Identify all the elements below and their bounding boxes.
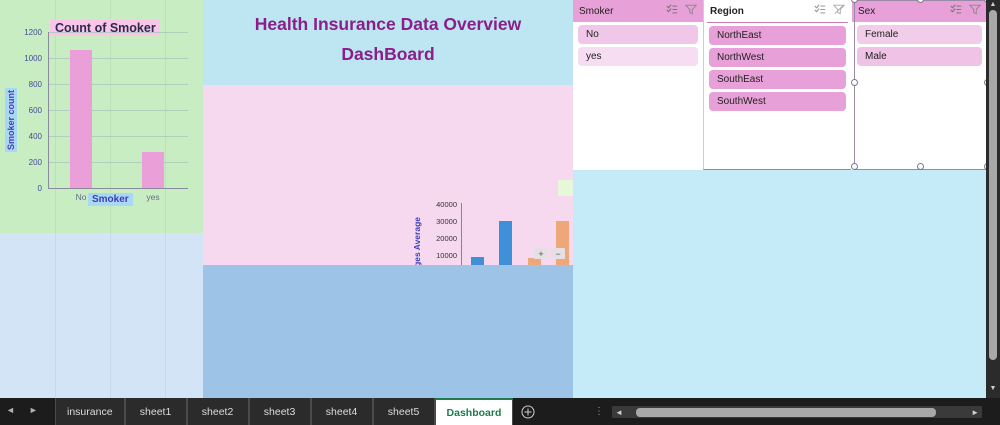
dashboard-title-panel: Health Insurance Data Overview DashBoard [203,0,573,85]
plus-circle-icon[interactable] [521,405,535,419]
multi-select-icon[interactable] [666,4,678,15]
sheet-tabs: insurance sheet1 sheet2 sheet3 sheet4 sh… [55,398,543,425]
ytick: 800 [18,80,42,89]
ytick: 1000 [18,54,42,63]
splitter-grip[interactable]: ⋮ [594,406,604,417]
horizontal-scroll-thumb[interactable] [636,408,936,417]
sheet-tab-dashboard[interactable]: Dashboard [435,398,514,425]
ytick: 20000 [419,234,457,243]
slicer-item-label: yes [586,51,602,62]
excel-dashboard-window: Count of Smoker Smoker count 1200 1000 8… [0,0,1000,425]
chart-total-charges-average[interactable]: Total Charges Average 40000 30000 20000 … [203,85,573,265]
chart-count-of-smoker[interactable]: Count of Smoker Smoker count 1200 1000 8… [0,0,203,233]
ytick: 400 [18,132,42,141]
slicer-item-region-southeast[interactable]: SouthEast [709,70,846,89]
slicer-region[interactable]: Region NorthEast [703,0,851,170]
slicer-item-smoker-no[interactable]: No [578,25,698,44]
ytick: 30000 [419,217,457,226]
slicer-header-region: Region [704,0,851,22]
slicer-item-region-northwest[interactable]: NorthWest [709,48,846,67]
slicer-item-label: NorthWest [717,52,764,63]
ytick: 600 [18,106,42,115]
ytick: 1200 [18,28,42,37]
slicer-item-region-northeast[interactable]: NorthEast [709,26,846,45]
plus-button[interactable]: + [534,248,548,259]
chart-total-line[interactable]: TOTAL Axis Title 160 140 120 100 80 60 4… [573,170,987,398]
slicer-title: Region [710,6,744,17]
slicer-item-label: NorthEast [717,30,761,41]
minus-button[interactable]: − [551,248,565,259]
hscroll-left-arrow[interactable]: ◄ [612,408,626,417]
clear-filter-icon[interactable] [833,4,845,15]
xtick: yes [134,192,172,202]
chart-count-of-region[interactable]: Count of Region Region count 380 360 340… [203,265,573,398]
slicer-item-label: No [586,29,599,40]
sheet-tab-sheet5[interactable]: sheet5 [373,398,435,425]
hscroll-right-arrow[interactable]: ► [968,408,982,417]
slicer-item-region-southwest[interactable]: SouthWest [709,92,846,111]
sheet-nav-prev[interactable]: ◄ [6,405,15,415]
chart-zoom-controls[interactable]: + − [534,248,565,259]
ytick: 0 [18,184,42,193]
horizontal-scrollbar[interactable]: ◄ ► [612,406,982,418]
chart-count-of-sex[interactable]: Count of Sex Sex count 680 675 670 665 6… [0,233,203,398]
axis-title-smoker: Smoker [88,193,133,206]
slicer-item-label: SouthEast [717,74,763,85]
resize-handle-middle-left[interactable] [851,79,858,86]
chart-title-count-of-smoker: Count of Smoker [50,20,160,36]
sheet-tab-sheet2[interactable]: sheet2 [187,398,249,425]
clear-filter-icon[interactable] [685,4,697,15]
ytick: 40000 [419,200,457,209]
sheet-tab-bar: ◄ ► insurance sheet1 sheet2 sheet3 sheet… [0,398,1000,425]
bar-smoker-yes [142,152,164,188]
sheet-tab-sheet4[interactable]: sheet4 [311,398,373,425]
slicer-item-label: SouthWest [717,96,766,107]
sheet-tab-sheet3[interactable]: sheet3 [249,398,311,425]
slicer-title: Smoker [579,6,613,17]
selection-frame-sex-slicer [854,0,988,170]
vertical-scroll-thumb[interactable] [989,10,997,360]
resize-handle-bottom-center[interactable] [917,163,924,170]
sheet-nav-next[interactable]: ► [29,405,38,415]
bar-smoker-no [70,50,92,188]
ytick: 10000 [419,251,457,260]
sheet-tab-insurance[interactable]: insurance [55,398,125,425]
slicer-smoker[interactable]: Smoker No yes [573,0,703,170]
ytick: 200 [18,158,42,167]
scroll-up-arrow[interactable]: ▲ [989,1,997,8]
vertical-scrollbar[interactable]: ▲ ▼ [986,0,1000,398]
add-sheet-button[interactable] [513,398,543,425]
scroll-down-arrow[interactable]: ▼ [989,385,997,392]
slicer-item-smoker-yes[interactable]: yes [578,47,698,66]
axis-title-smoker-count: Smoker count [5,88,17,152]
sheet-tab-sheet1[interactable]: sheet1 [125,398,187,425]
resize-handle-bottom-left[interactable] [851,163,858,170]
slicer-header-smoker: Smoker [573,0,703,22]
multi-select-icon[interactable] [814,4,826,15]
dashboard-title-line1: Health Insurance Data Overview [203,14,573,35]
dashboard-title-line2: DashBoard [203,44,573,65]
sheet-nav-arrows[interactable]: ◄ ► [6,405,38,415]
